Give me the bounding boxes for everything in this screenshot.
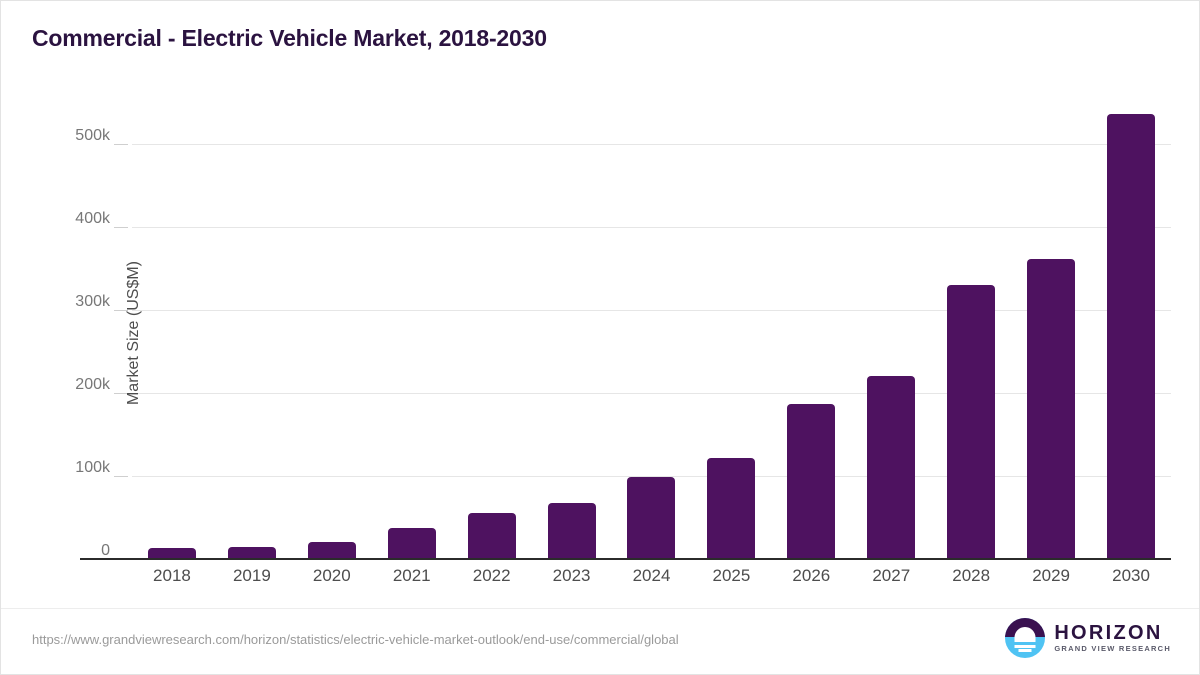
- y-axis-tick-mark: [114, 144, 128, 145]
- bar-2028[interactable]: [947, 285, 995, 560]
- horizon-logo-icon: [1005, 618, 1045, 658]
- y-axis-tick-mark: [114, 227, 128, 228]
- y-axis-tick-mark: [114, 476, 128, 477]
- bar-series: [132, 101, 1171, 560]
- y-axis-tick-label: 100k: [75, 459, 110, 477]
- bar-2027[interactable]: [867, 376, 915, 560]
- x-axis-tick-label: 2030: [1091, 566, 1171, 586]
- bar-slot: [1011, 101, 1091, 560]
- y-axis-tick-label: 200k: [75, 376, 110, 394]
- bar-2025[interactable]: [707, 458, 755, 560]
- bar-slot: [532, 101, 612, 560]
- bar-slot: [691, 101, 771, 560]
- bar-slot: [931, 101, 1011, 560]
- x-axis-tick-label: 2020: [292, 566, 372, 586]
- logo-text: HORIZON GRAND VIEW RESEARCH: [1054, 623, 1171, 653]
- footer-divider: [1, 608, 1199, 609]
- bar-slot: [292, 101, 372, 560]
- y-axis-tick-label: 300k: [75, 293, 110, 311]
- bar-2022[interactable]: [468, 513, 516, 560]
- bar-2030[interactable]: [1107, 114, 1155, 560]
- bar-2026[interactable]: [787, 404, 835, 560]
- bar-slot: [372, 101, 452, 560]
- bar-2023[interactable]: [548, 503, 596, 560]
- bar-slot: [1091, 101, 1171, 560]
- x-axis-tick-label: 2023: [532, 566, 612, 586]
- x-axis-tick-label: 2019: [212, 566, 292, 586]
- page-title: Commercial - Electric Vehicle Market, 20…: [32, 25, 547, 52]
- bar-2021[interactable]: [388, 528, 436, 560]
- x-axis-tick-label: 2027: [851, 566, 931, 586]
- horizon-logo: HORIZON GRAND VIEW RESEARCH: [1005, 618, 1171, 658]
- x-axis-tick-label: 2022: [452, 566, 532, 586]
- chart-screenshot: Commercial - Electric Vehicle Market, 20…: [0, 0, 1200, 675]
- bar-2029[interactable]: [1027, 259, 1075, 560]
- bar-slot: [771, 101, 851, 560]
- y-axis-title: Market Size (US$M): [125, 261, 143, 405]
- x-axis-tick-label: 2025: [691, 566, 771, 586]
- x-axis-tick-label: 2021: [372, 566, 452, 586]
- bar-slot: [452, 101, 532, 560]
- x-axis-tick-label: 2029: [1011, 566, 1091, 586]
- x-axis-tick-labels: 2018201920202021202220232024202520262027…: [132, 566, 1171, 586]
- x-axis-tick-label: 2018: [132, 566, 212, 586]
- bar-slot: [851, 101, 931, 560]
- plot-area: 0100k200k300k400k500k Market Size (US$M): [132, 101, 1171, 560]
- x-axis-tick-label: 2028: [931, 566, 1011, 586]
- x-axis-tick-label: 2026: [771, 566, 851, 586]
- source-url: https://www.grandviewresearch.com/horizo…: [32, 632, 679, 647]
- y-axis-tick-label: 500k: [75, 127, 110, 145]
- bar-slot: [212, 101, 292, 560]
- bar-2024[interactable]: [627, 477, 675, 560]
- y-axis-tick-label: 400k: [75, 210, 110, 228]
- bar-slot: [132, 101, 212, 560]
- logo-tagline: GRAND VIEW RESEARCH: [1054, 644, 1171, 653]
- x-axis-tick-label: 2024: [612, 566, 692, 586]
- bar-slot: [612, 101, 692, 560]
- x-axis-line: [80, 558, 1171, 560]
- logo-wordmark: HORIZON: [1054, 623, 1171, 644]
